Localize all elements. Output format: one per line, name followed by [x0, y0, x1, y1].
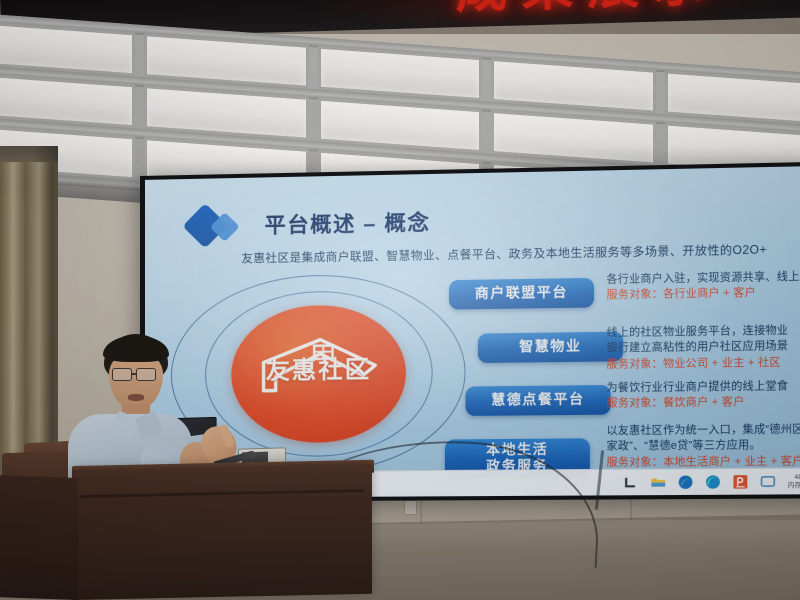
badge-label: 友惠社区 [231, 349, 406, 386]
desc-smart-property: 线上的社区物业服务平台，连接物业 银行建立高粘性的用户社区应用场景 服务对象：物… [607, 323, 789, 373]
task-view-icon[interactable] [623, 475, 639, 490]
eyeglasses-right-lens [136, 368, 156, 381]
desc-object-label: 服务对象： [607, 358, 663, 371]
podium [72, 464, 372, 600]
edge-browser-icon[interactable] [678, 474, 694, 489]
desc-object-value: 餐饮商户 + 客户 [663, 396, 745, 409]
powerpoint-icon[interactable] [732, 474, 748, 490]
tray-memory-usage[interactable]: 48% 内存占用 [788, 474, 800, 490]
tray-percent: 48% [788, 474, 800, 482]
desc-local-life-gov: 以友惠社区作为统一入口，集成“德州区 家政”、“慧德e贷”等三方应用。 服务对象… [607, 422, 800, 471]
desc-object-label: 服务对象： [607, 397, 663, 410]
desc-object-value: 各行业商户 + 客户 [663, 287, 756, 301]
browser-icon[interactable] [705, 474, 721, 490]
desc-object-value: 本地生活商户 + 业主 + 客户 [663, 455, 800, 468]
pill-smart-property: 智慧物业 [478, 332, 623, 363]
slide-subtitle: 友惠社区是集成商户联盟、智慧物业、点餐平台、政务及本地生活服务等多场景、开放性的… [241, 240, 800, 267]
desc-object-value: 物业公司 + 业主 + 社区 [663, 356, 781, 370]
desc-ordering-platform: 为餐饮行业行业商户提供的线上堂食 服务对象：餐饮商户 + 客户 [607, 379, 789, 413]
eyeglasses-bridge [131, 373, 137, 375]
presenter-fringe [103, 336, 169, 362]
desc-body-2: 家政”、“慧德e贷”等三方应用。 [607, 438, 800, 455]
app-window-icon[interactable] [760, 474, 776, 490]
tray-label: 内存占用 [788, 481, 800, 489]
presenter-mouth [128, 394, 144, 401]
desc-object-label: 服务对象： [607, 289, 663, 302]
conference-photo: 成果展示 [0, 0, 800, 600]
file-explorer-icon[interactable] [650, 475, 666, 490]
desc-body: 为餐饮行业行业商户提供的线上堂食 [607, 379, 789, 397]
slide-title-row: 平台概述 – 概念 [189, 202, 430, 245]
podium-side [0, 475, 78, 600]
curtain-shadow [0, 146, 58, 486]
desc-body: 以友惠社区作为统一入口，集成“德州区 [607, 422, 800, 440]
desc-merchant-alliance: 各行业商户入驻，实现资源共享、线上线下 服务对象：各行业商户 + 客户 [607, 269, 800, 304]
diamond-logo-icon [189, 206, 251, 245]
pill-ordering-platform: 慧德点餐平台 [466, 385, 611, 416]
eyeglasses-left-lens [112, 368, 132, 381]
pill-merchant-alliance: 商户联盟平台 [449, 278, 594, 310]
slide-title: 平台概述 – 概念 [265, 206, 431, 239]
desc-object-label: 服务对象： [607, 456, 663, 469]
